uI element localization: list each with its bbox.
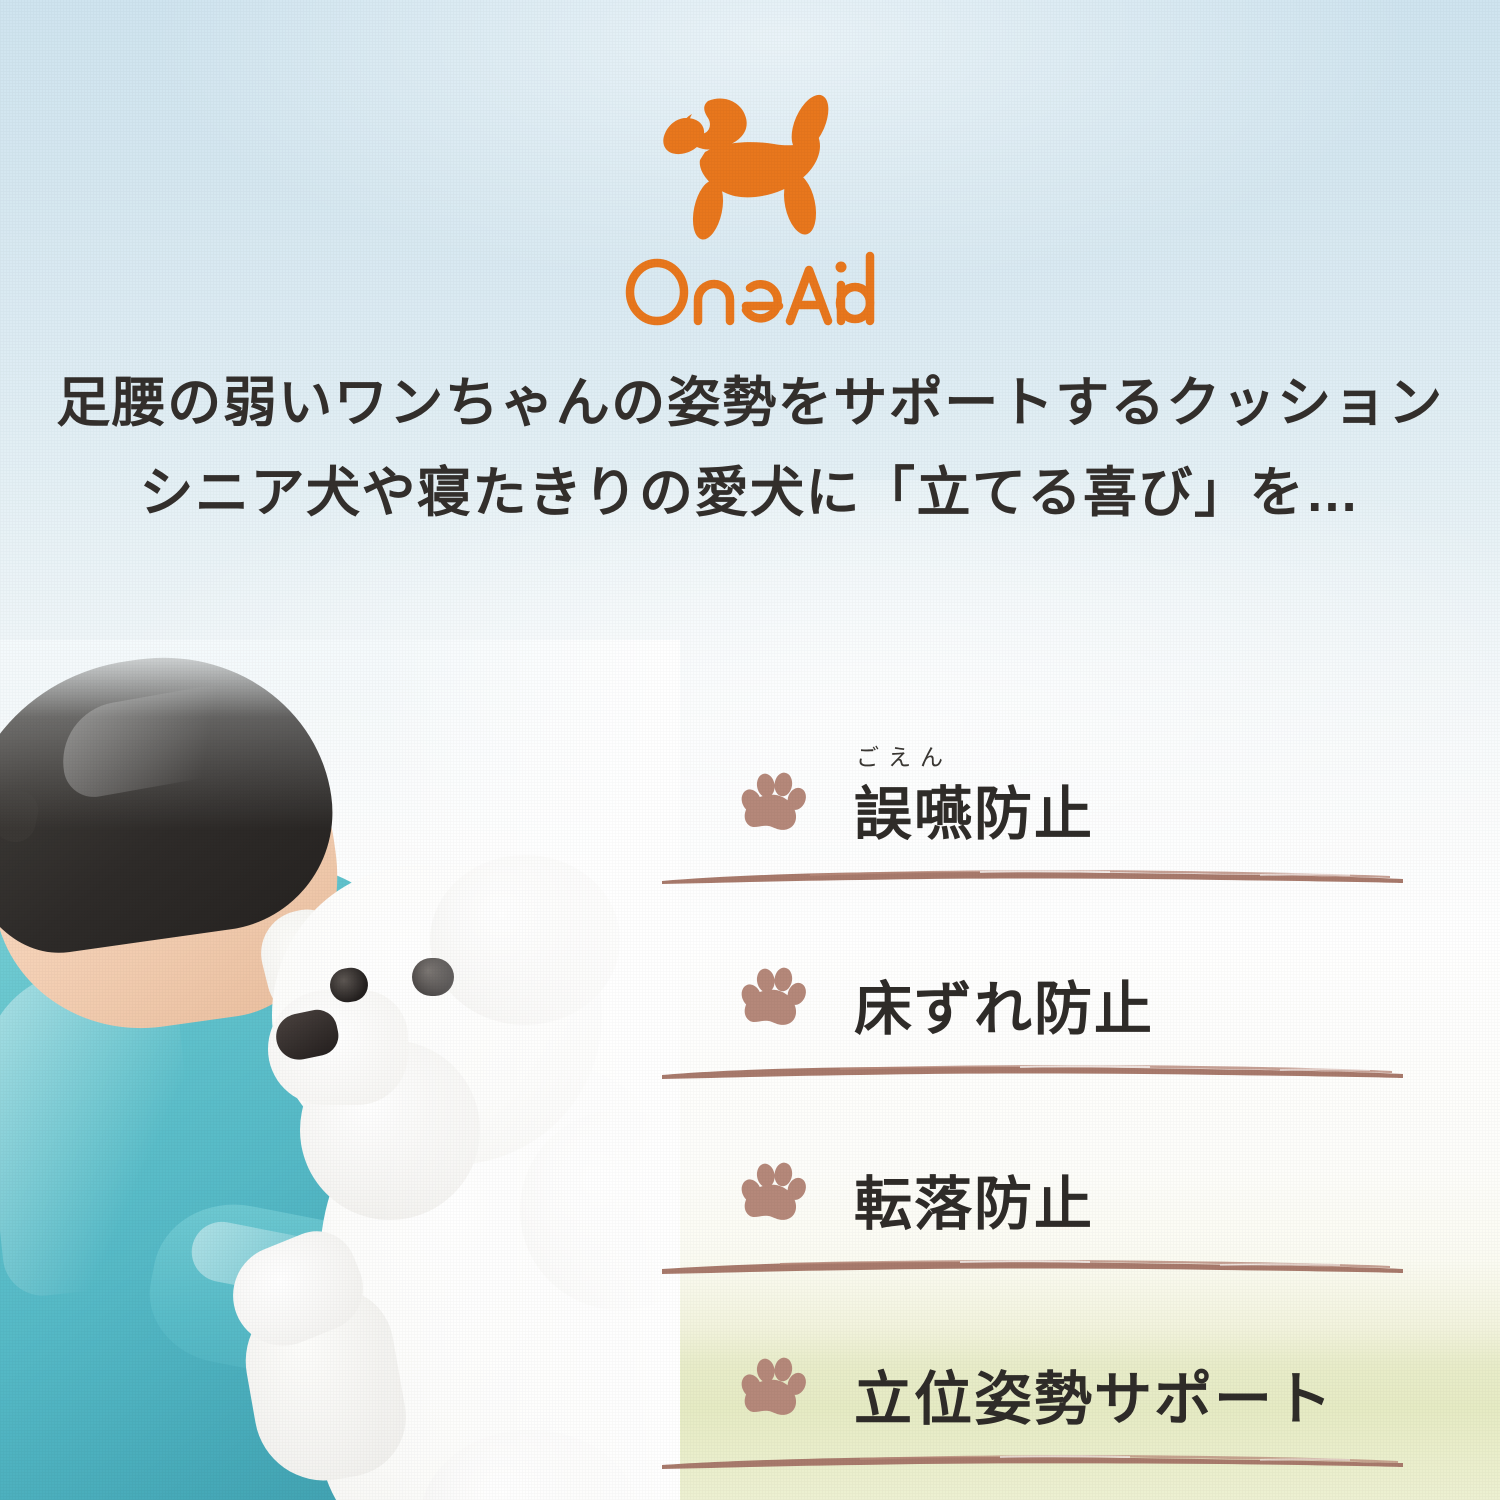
dog-silhouette-icon (650, 92, 850, 242)
feature-row: 床ずれ防止 (660, 895, 1430, 1045)
headline-line-1: 足腰の弱いワンちゃんの姿勢をサポートするクッション (0, 372, 1500, 436)
feature-ruby: ごえん (856, 746, 952, 769)
paw-print-icon (740, 1160, 806, 1226)
paw-print-icon (740, 770, 806, 836)
feature-label-wrap: 転落防止 (854, 1176, 1094, 1240)
promo-banner: 足腰の弱いワンちゃんの姿勢をサポートするクッション シニア犬や寝たきりの愛犬に「… (0, 0, 1500, 1500)
feature-row: ごえん 誤嚥防止 (660, 700, 1430, 850)
feature-label: 立位姿勢サポート (854, 1367, 1334, 1432)
brush-divider (660, 1257, 1405, 1277)
feature-row: 立位姿勢サポート (660, 1285, 1430, 1435)
dog-eye-right (412, 958, 454, 996)
headline-line-2: シニア犬や寝たきりの愛犬に「立てる喜び」を… (0, 462, 1500, 526)
brush-divider (660, 1452, 1405, 1472)
feature-item: 床ずれ防止 (660, 895, 1430, 1090)
feature-label: 転落防止 (854, 1172, 1094, 1237)
feature-row: 転落防止 (660, 1090, 1430, 1240)
hero-photo (0, 640, 680, 1500)
feature-label-wrap: ごえん 誤嚥防止 (854, 786, 1094, 850)
brush-divider (660, 867, 1405, 887)
feature-label-wrap: 床ずれ防止 (854, 981, 1154, 1045)
brand-logo (0, 92, 1500, 326)
brush-divider (660, 1062, 1405, 1082)
feature-item: 転落防止 (660, 1090, 1430, 1285)
paw-print-icon (740, 1355, 806, 1421)
feature-label: 床ずれ防止 (854, 977, 1154, 1042)
oneaid-wordmark-icon (625, 248, 875, 326)
feature-item: ごえん 誤嚥防止 (660, 700, 1430, 895)
feature-list: ごえん 誤嚥防止 (660, 700, 1430, 1480)
feature-item: 立位姿勢サポート (660, 1285, 1430, 1480)
headline: 足腰の弱いワンちゃんの姿勢をサポートするクッション シニア犬や寝たきりの愛犬に「… (0, 372, 1500, 525)
paw-print-icon (740, 965, 806, 1031)
feature-label: 誤嚥防止 (854, 782, 1094, 847)
feature-label-wrap: 立位姿勢サポート (854, 1371, 1334, 1435)
brand-wordmark (625, 248, 875, 326)
dog-head-fluff (430, 855, 620, 1025)
